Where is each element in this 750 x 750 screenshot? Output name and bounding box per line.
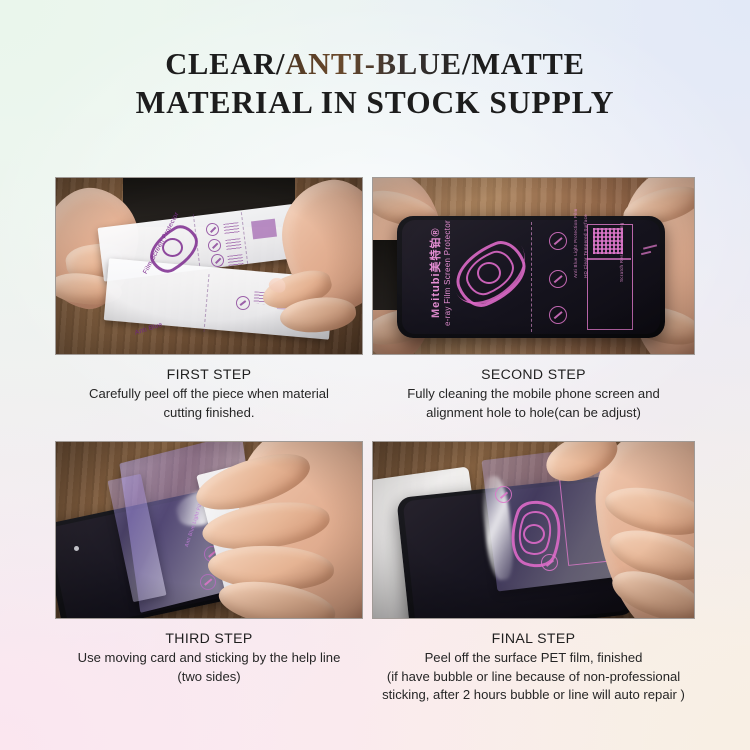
step-title-final: FINAL STEP — [372, 628, 695, 648]
film-text-block-2 — [225, 238, 241, 251]
step-desc-final-line3: sticking, after 2 hours bubble or line w… — [372, 686, 695, 705]
step-caption-final: FINAL STEP Peel off the surface PET film… — [372, 628, 695, 705]
brand-latin: Meitubi — [430, 273, 442, 319]
step-desc-first-line1: Carefully peel off the piece when materi… — [55, 385, 363, 404]
step-title-third: THIRD STEP — [55, 628, 363, 648]
title-line-2: MATERIAL IN STOCK SUPPLY — [0, 86, 750, 121]
title-line-1: CLEAR/ANTI-BLUE/MATTE — [0, 48, 750, 82]
film-alignment-dashed-line — [531, 222, 532, 332]
film-text-block-1 — [223, 222, 239, 235]
film-warning-icon-2 — [549, 270, 567, 288]
film-print-block-1 — [251, 219, 277, 240]
film-warning-icon-1 — [549, 232, 567, 250]
steps-row-bottom: Anti Blue Light Film THIRD STEP — [55, 441, 695, 705]
step-photo-third: Anti Blue Light Film — [55, 441, 363, 619]
promo-page: CLEAR/ANTI-BLUE/MATTE MATERIAL IN STOCK … — [0, 0, 750, 750]
step-photo-final: Meitubi美特铂 e-ray Film Screen Protector — [372, 441, 695, 619]
steps-row-top: Film Screen Protector Anti Blue FIRST — [55, 177, 695, 422]
step-caption-first: FIRST STEP Carefully peel off the piece … — [55, 364, 363, 422]
step-photo-second: Meitubi美特铂® e-ray Film Screen Protector — [372, 177, 695, 355]
steps-grid: Film Screen Protector Anti Blue FIRST — [55, 177, 695, 705]
step-desc-first-line2: cutting finished. — [55, 404, 363, 423]
title-part-clear: CLEAR/ — [165, 47, 285, 81]
step-title-second: SECOND STEP — [372, 364, 695, 384]
film-divider-rule — [587, 258, 631, 260]
film-text-block-3 — [227, 254, 243, 267]
page-title: CLEAR/ANTI-BLUE/MATTE MATERIAL IN STOCK … — [0, 48, 750, 120]
step-desc-final-line2: (if have bubble or line because of non-p… — [372, 668, 695, 687]
brand-chinese: 美特铂 — [430, 237, 442, 273]
registered-mark: ® — [430, 227, 442, 236]
step-card-third: Anti Blue Light Film THIRD STEP — [55, 441, 363, 705]
step-card-second: Meitubi美特铂® e-ray Film Screen Protector — [372, 177, 695, 422]
qr-code — [593, 228, 623, 254]
film-micro-text-1: Anti Blue Light Protection Film — [573, 208, 578, 278]
step-caption-second: SECOND STEP Fully cleaning the mobile ph… — [372, 364, 695, 422]
film-warning-icon-4 — [236, 296, 250, 310]
step-caption-third: THIRD STEP Use moving card and sticking … — [55, 628, 363, 686]
step-desc-second-line2: alignment hole to hole(can be adjust) — [372, 404, 695, 423]
step-title-first: FIRST STEP — [55, 364, 363, 384]
brand-text-chinese: Meitubi美特铂® — [427, 227, 443, 318]
step-card-final: Meitubi美特铂 e-ray Film Screen Protector — [372, 441, 695, 705]
step-card-first: Film Screen Protector Anti Blue FIRST — [55, 177, 363, 422]
step-desc-third-line2: (two sides) — [55, 668, 363, 687]
step-desc-third-line1: Use moving card and sticking by the help… — [55, 649, 363, 668]
title-part-anti-blue: ANTI-BLUE — [285, 47, 462, 81]
step-desc-second-line1: Fully cleaning the mobile phone screen a… — [372, 385, 695, 404]
title-part-matte: /MATTE — [462, 47, 585, 81]
film-warning-icon-3 — [549, 306, 567, 324]
step-desc-final-line1: Peel off the surface PET film, finished — [372, 649, 695, 668]
step-photo-first: Film Screen Protector Anti Blue — [55, 177, 363, 355]
